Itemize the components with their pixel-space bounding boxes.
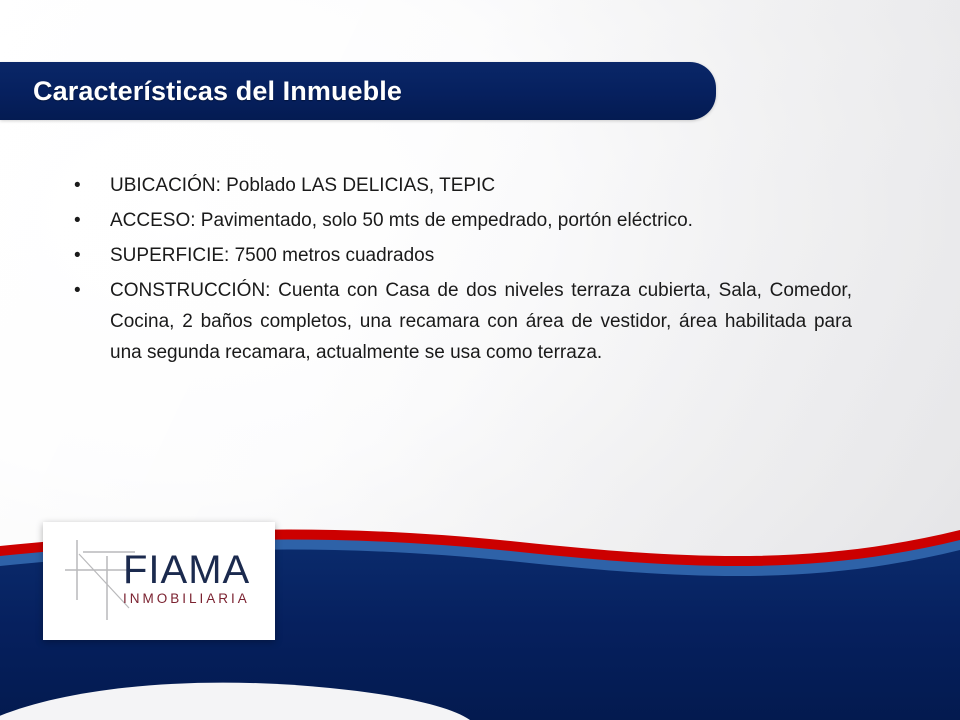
bullet-point-icon: • — [74, 205, 110, 236]
list-item: • SUPERFICIE: 7500 metros cuadrados — [74, 240, 852, 271]
bullet-list: • UBICACIÓN: Poblado LAS DELICIAS, TEPIC… — [74, 170, 852, 372]
list-item: • UBICACIÓN: Poblado LAS DELICIAS, TEPIC — [74, 170, 852, 201]
logo-name: FIAMA — [123, 550, 269, 590]
bullet-text: SUPERFICIE: 7500 metros cuadrados — [110, 240, 852, 271]
logo-wordmark: FIAMA INMOBILIARIA — [123, 550, 269, 607]
bullet-text: CONSTRUCCIÓN: Cuenta con Casa de dos niv… — [110, 275, 852, 368]
page-title: Características del Inmueble — [33, 78, 402, 105]
logo-inner: FIAMA INMOBILIARIA — [43, 522, 275, 640]
slide-canvas: Características del Inmueble • UBICACIÓN… — [0, 0, 960, 720]
bullet-text: UBICACIÓN: Poblado LAS DELICIAS, TEPIC — [110, 170, 852, 201]
slide-title-bar: Características del Inmueble — [0, 62, 716, 120]
bullet-text: ACCESO: Pavimentado, solo 50 mts de empe… — [110, 205, 852, 236]
bullet-point-icon: • — [74, 240, 110, 271]
bullet-point-icon: • — [74, 170, 110, 201]
logo-tagline: INMOBILIARIA — [123, 591, 269, 607]
list-item: • ACCESO: Pavimentado, solo 50 mts de em… — [74, 205, 852, 236]
list-item: • CONSTRUCCIÓN: Cuenta con Casa de dos n… — [74, 275, 852, 368]
bullet-point-icon: • — [74, 275, 110, 306]
company-logo: FIAMA INMOBILIARIA — [43, 522, 275, 640]
